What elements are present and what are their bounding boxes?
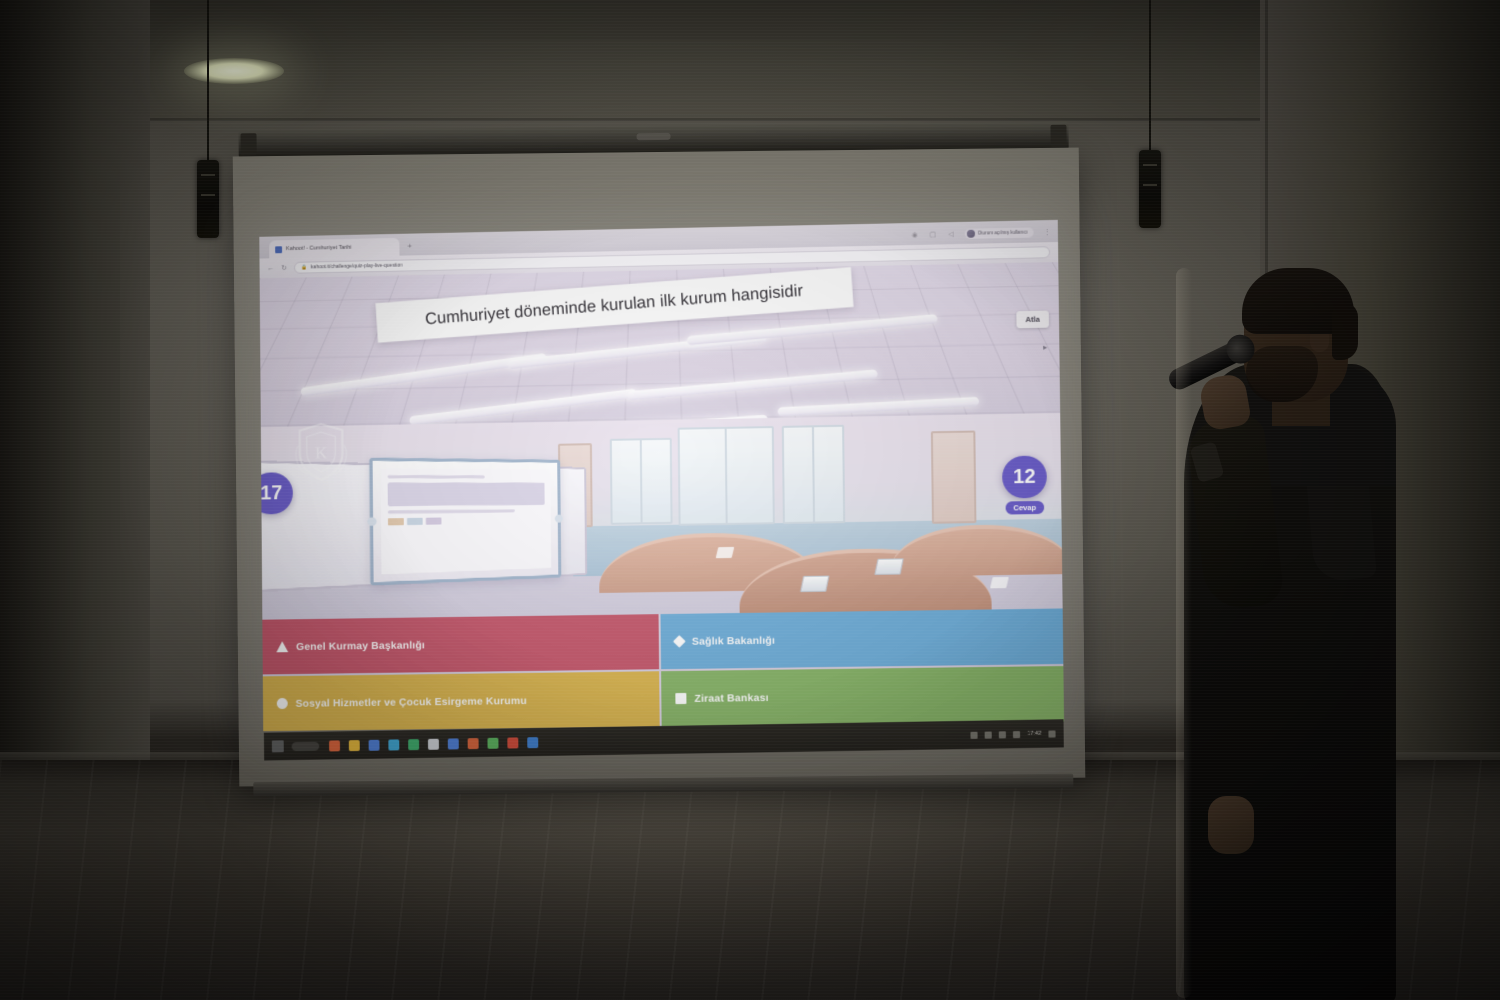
pendant-cord bbox=[207, 0, 209, 160]
system-tray: 17:42 bbox=[971, 730, 1056, 738]
answer-label: Sosyal Hizmetler ve Çocuk Esirgeme Kurum… bbox=[296, 694, 527, 709]
battery-icon[interactable] bbox=[1013, 731, 1020, 738]
taskbar-app-icon[interactable] bbox=[428, 738, 439, 749]
back-arrow-icon[interactable]: ← bbox=[267, 265, 274, 272]
kahoot-game-stage: K Cumhuriyet döneminde kurulan ilk kurum… bbox=[260, 262, 1064, 731]
roller-cap-right bbox=[1050, 125, 1066, 147]
search-input[interactable] bbox=[292, 741, 320, 750]
roller-knob bbox=[637, 133, 671, 140]
answer-count-value: 12 bbox=[1002, 455, 1047, 498]
answer-option-yellow[interactable]: Sosyal Hizmetler ve Çocuk Esirgeme Kurum… bbox=[263, 671, 660, 731]
pendant-cord bbox=[1149, 0, 1151, 150]
smartboard-line bbox=[388, 509, 515, 514]
desk-paper bbox=[716, 547, 735, 558]
answer-count-label: Cevap bbox=[1005, 501, 1044, 515]
presenter-hair bbox=[1242, 268, 1354, 334]
smartboard-speaker-icon bbox=[367, 517, 376, 526]
triangle-icon bbox=[276, 641, 288, 652]
desk-paper bbox=[990, 577, 1009, 588]
svg-text:K: K bbox=[315, 443, 328, 462]
left-wall bbox=[0, 0, 150, 800]
desk-laptop bbox=[800, 576, 829, 592]
network-icon[interactable] bbox=[985, 731, 992, 738]
url-text: kahoot.it/challenge/quiz-play-live-quest… bbox=[311, 263, 403, 271]
skip-button[interactable]: Atla bbox=[1016, 311, 1049, 329]
browser-toolbar-right: ◉ ▢ ◁ Oturum açılmış kullanıcı ⋮ bbox=[910, 223, 1052, 243]
reload-icon[interactable]: ↻ bbox=[281, 264, 287, 272]
seminar-room: Kahoot! - Cumhuriyet Tarihi + ◉ ▢ ◁ Otur… bbox=[0, 0, 1500, 1000]
taskbar-app-icon[interactable] bbox=[468, 738, 479, 749]
screen-canvas: Kahoot! - Cumhuriyet Tarihi + ◉ ▢ ◁ Otur… bbox=[233, 148, 1086, 787]
new-tab-button[interactable]: + bbox=[407, 242, 412, 251]
projection-screen-assembly: Kahoot! - Cumhuriyet Tarihi + ◉ ▢ ◁ Otur… bbox=[232, 122, 1089, 811]
square-icon bbox=[675, 693, 686, 704]
taskbar-app-icon[interactable] bbox=[487, 737, 498, 748]
taskbar-app-icon[interactable] bbox=[448, 738, 459, 749]
roller-cap-left bbox=[240, 133, 256, 155]
extensions-icon[interactable]: ◉ bbox=[910, 230, 919, 239]
pendant-body bbox=[197, 160, 219, 238]
timer-value: 17 bbox=[260, 472, 294, 514]
taskbar-clock[interactable]: 17:42 bbox=[1027, 731, 1041, 737]
illustration-window bbox=[610, 438, 673, 525]
answer-label: Genel Kurmay Başkanlığı bbox=[296, 639, 425, 653]
answer-label: Sağlık Bakanlığı bbox=[692, 634, 775, 647]
chevron-right-icon[interactable]: ▸ bbox=[1043, 343, 1047, 352]
taskbar-app-icon[interactable] bbox=[349, 740, 360, 751]
taskbar-app-icon[interactable] bbox=[329, 740, 340, 751]
tab-title: Kahoot! - Cumhuriyet Tarihi bbox=[286, 245, 352, 252]
desk-laptop bbox=[874, 558, 903, 575]
illustration-window bbox=[678, 426, 775, 526]
illustration-smartboard bbox=[369, 458, 561, 586]
taskbar-app-icon[interactable] bbox=[388, 739, 399, 750]
answer-options-grid: Genel Kurmay Başkanlığı Sağlık Bakanlığı… bbox=[262, 608, 1064, 731]
translate-icon[interactable]: ◁ bbox=[946, 229, 955, 238]
pendant-body bbox=[1139, 150, 1161, 228]
answer-counter: 12 Cevap bbox=[1002, 455, 1048, 514]
answer-option-green[interactable]: Ziraat Bankası bbox=[661, 666, 1064, 726]
taskbar-app-icons bbox=[329, 737, 538, 751]
profile-icon bbox=[967, 229, 975, 237]
illustration-desks bbox=[589, 522, 1063, 619]
smartboard-line bbox=[388, 475, 485, 478]
profile-name: Oturum açılmış kullanıcı bbox=[978, 230, 1028, 236]
answer-option-blue[interactable]: Sağlık Bakanlığı bbox=[661, 608, 1064, 669]
smartboard-chips bbox=[388, 516, 545, 526]
circle-icon bbox=[277, 698, 288, 709]
windows-start-icon[interactable] bbox=[272, 740, 284, 752]
chevron-up-icon[interactable] bbox=[971, 731, 978, 738]
profile-chip[interactable]: Oturum açılmış kullanıcı bbox=[965, 227, 1034, 238]
taskbar-app-icon[interactable] bbox=[507, 737, 518, 748]
desk-row bbox=[890, 524, 1063, 577]
presenter-lower-hand bbox=[1208, 796, 1254, 854]
presenter-person bbox=[1160, 268, 1450, 1000]
ceiling-light-left bbox=[184, 58, 284, 84]
illustration-door bbox=[931, 431, 977, 524]
taskbar-app-icon[interactable] bbox=[527, 737, 538, 748]
taskbar-app-icon[interactable] bbox=[408, 739, 419, 750]
answer-option-red[interactable]: Genel Kurmay Başkanlığı bbox=[262, 614, 659, 674]
school-crest-icon: K bbox=[294, 422, 348, 483]
taskbar-app-icon[interactable] bbox=[369, 739, 380, 750]
volume-icon[interactable] bbox=[999, 731, 1006, 738]
diamond-icon bbox=[673, 635, 686, 648]
illustration-window bbox=[782, 425, 845, 524]
countdown-timer: 17 bbox=[260, 472, 294, 514]
lock-icon: 🔒 bbox=[301, 265, 307, 271]
smartboard-block bbox=[388, 483, 545, 507]
menu-icon[interactable]: ⋮ bbox=[1043, 227, 1052, 236]
bookmark-icon[interactable]: ▢ bbox=[928, 229, 937, 238]
projected-display: Kahoot! - Cumhuriyet Tarihi + ◉ ▢ ◁ Otur… bbox=[259, 220, 1064, 731]
smartboard-screen bbox=[381, 469, 552, 575]
notification-icon[interactable] bbox=[1048, 730, 1055, 737]
answer-label: Ziraat Bankası bbox=[694, 691, 768, 704]
tab-favicon bbox=[275, 246, 282, 253]
